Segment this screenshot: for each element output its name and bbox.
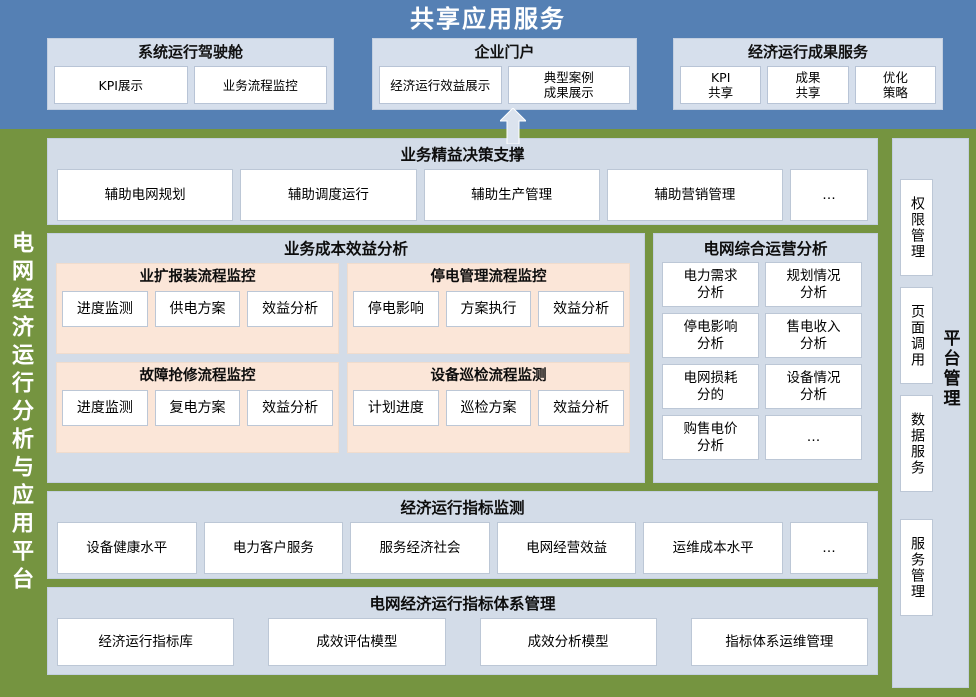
subbox-items-row: 计划进度 巡检方案 效益分析 [353,390,624,426]
platform-management-column: 权限管理 页面调用 数据服务 服务管理 平台管理 [892,138,969,688]
module-cell[interactable]: 辅助调度运行 [240,169,416,221]
module-cell[interactable]: 设备健康水平 [57,522,197,574]
subbox-expansion-process: 业扩报装流程监控 进度监测 供电方案 效益分析 [56,263,339,354]
platform-management-item-data-service[interactable]: 数据服务 [900,395,933,492]
panel-business-decision-support: 业务精益决策支撑 辅助电网规划 辅助调度运行 辅助生产管理 辅助营销管理 … [47,138,878,225]
module-cell[interactable]: 进度监测 [62,291,148,327]
platform-management-item-service-management[interactable]: 服务管理 [900,519,933,616]
header-group-title: 系统运行驾驶舱 [54,42,327,63]
module-cell[interactable]: 电力需求分析 [662,262,759,307]
panel-business-cost-benefit-analysis: 业务成本效益分析 业扩报装流程监控 进度监测 供电方案 效益分析 停电管理流程监… [47,233,645,483]
subbox-items-row: 停电影响 方案执行 效益分析 [353,291,624,327]
module-cell-more[interactable]: … [765,415,862,460]
platform-container: 电网经济运行分析与应用平台 业务精益决策支撑 辅助电网规划 辅助调度运行 辅助生… [0,129,976,697]
module-cell[interactable]: 成效评估模型 [268,618,445,666]
panel-title: 业务精益决策支撑 [57,142,868,166]
module-cell[interactable]: 巡检方案 [446,390,532,426]
module-cell[interactable]: 电力客户服务 [204,522,344,574]
module-cell[interactable]: 运维成本水平 [643,522,783,574]
page-title: 共享应用服务 [0,2,976,36]
header-item[interactable]: 典型案例成果展示 [508,66,631,104]
subbox-items-row: 进度监测 供电方案 效益分析 [62,291,333,327]
module-cell[interactable]: 购售电价分析 [662,415,759,460]
module-cell[interactable]: 电网经营效益 [497,522,637,574]
subbox-title: 故障抢修流程监控 [62,366,333,387]
module-cell[interactable]: 停电影响 [353,291,439,327]
panel-items-row: 辅助电网规划 辅助调度运行 辅助生产管理 辅助营销管理 … [57,169,868,221]
header-group-title: 经济运行成果服务 [680,42,936,63]
header-group-items: KPI共享 成果共享 优化策略 [680,66,936,104]
module-cell[interactable]: 售电收入分析 [765,313,862,358]
header-group-enterprise-portal: 企业门户 经济运行效益展示 典型案例成果展示 [372,38,637,110]
panel-title: 经济运行指标监测 [57,495,868,519]
ops-items-grid: 电力需求分析 规划情况分析 停电影响分析 售电收入分析 电网损耗分的 设备情况分… [662,262,869,460]
module-cell[interactable]: 经济运行指标库 [57,618,234,666]
subbox-fault-repair-process: 故障抢修流程监控 进度监测 复电方案 效益分析 [56,362,339,453]
platform-management-label: 平台管理 [937,309,963,429]
header-group-items: KPI展示 业务流程监控 [54,66,327,104]
module-cell[interactable]: 成效分析模型 [480,618,657,666]
platform-main-column: 业务精益决策支撑 辅助电网规划 辅助调度运行 辅助生产管理 辅助营销管理 … 业… [40,129,885,697]
module-cell[interactable]: 计划进度 [353,390,439,426]
header-group-title: 企业门户 [379,42,630,63]
module-cell[interactable]: 方案执行 [446,291,532,327]
platform-management-item-permission[interactable]: 权限管理 [900,179,933,276]
module-cell[interactable]: 效益分析 [247,390,333,426]
panel-items-row: 经济运行指标库 成效评估模型 成效分析模型 指标体系运维管理 [57,618,868,666]
module-cell[interactable]: 服务经济社会 [350,522,490,574]
module-cell[interactable]: 指标体系运维管理 [691,618,868,666]
module-cell[interactable]: 规划情况分析 [765,262,862,307]
module-cell[interactable]: 停电影响分析 [662,313,759,358]
panel-indicator-system-management: 电网经济运行指标体系管理 经济运行指标库 成效评估模型 成效分析模型 指标体系运… [47,587,878,675]
module-cell[interactable]: 进度监测 [62,390,148,426]
module-cell[interactable]: 设备情况分析 [765,364,862,409]
header-group-economic-results-service: 经济运行成果服务 KPI共享 成果共享 优化策略 [673,38,943,110]
module-cell[interactable]: 复电方案 [155,390,241,426]
up-arrow-icon [500,108,526,144]
platform-left-title: 电网经济运行分析与应用平台 [0,129,40,697]
panel-title: 电网经济运行指标体系管理 [57,591,868,615]
module-cell-more[interactable]: … [790,169,868,221]
header-item[interactable]: KPI共享 [680,66,761,104]
panel-items-row: 设备健康水平 电力客户服务 服务经济社会 电网经营效益 运维成本水平 … [57,522,868,574]
module-cell[interactable]: 辅助电网规划 [57,169,233,221]
module-cell[interactable]: 辅助生产管理 [424,169,600,221]
module-cell[interactable]: 效益分析 [247,291,333,327]
header-group-system-cockpit: 系统运行驾驶舱 KPI展示 业务流程监控 [47,38,334,110]
module-cell[interactable]: 电网损耗分的 [662,364,759,409]
subbox-equipment-inspection-process: 设备巡检流程监测 计划进度 巡检方案 效益分析 [347,362,630,453]
panel-title: 业务成本效益分析 [56,236,636,260]
subbox-outage-management-process: 停电管理流程监控 停电影响 方案执行 效益分析 [347,263,630,354]
platform-management-item-page-invocation[interactable]: 页面调用 [900,287,933,384]
header-group-items: 经济运行效益展示 典型案例成果展示 [379,66,630,104]
shared-application-services-header: 共享应用服务 系统运行驾驶舱 KPI展示 业务流程监控 企业门户 经济运行效益展… [0,0,976,129]
module-cell-more[interactable]: … [790,522,868,574]
cost-subbox-grid: 业扩报装流程监控 进度监测 供电方案 效益分析 停电管理流程监控 停电影响 方案… [56,263,636,453]
subbox-title: 设备巡检流程监测 [353,366,624,387]
header-item[interactable]: 成果共享 [767,66,848,104]
module-cell[interactable]: 供电方案 [155,291,241,327]
panel-title: 电网综合运营分析 [662,236,869,260]
subbox-items-row: 进度监测 复电方案 效益分析 [62,390,333,426]
subbox-title: 停电管理流程监控 [353,267,624,288]
module-cell[interactable]: 辅助营销管理 [607,169,783,221]
panel-grid-comprehensive-operation-analysis: 电网综合运营分析 电力需求分析 规划情况分析 停电影响分析 售电收入分析 电网损… [653,233,878,483]
header-item[interactable]: 优化策略 [855,66,936,104]
module-cell[interactable]: 效益分析 [538,390,624,426]
platform-left-band: 电网经济运行分析与应用平台 [0,129,40,697]
header-item[interactable]: 业务流程监控 [194,66,328,104]
header-item[interactable]: KPI展示 [54,66,188,104]
module-cell[interactable]: 效益分析 [538,291,624,327]
panel-economic-indicator-monitoring: 经济运行指标监测 设备健康水平 电力客户服务 服务经济社会 电网经营效益 运维成… [47,491,878,579]
header-item[interactable]: 经济运行效益展示 [379,66,502,104]
subbox-title: 业扩报装流程监控 [62,267,333,288]
